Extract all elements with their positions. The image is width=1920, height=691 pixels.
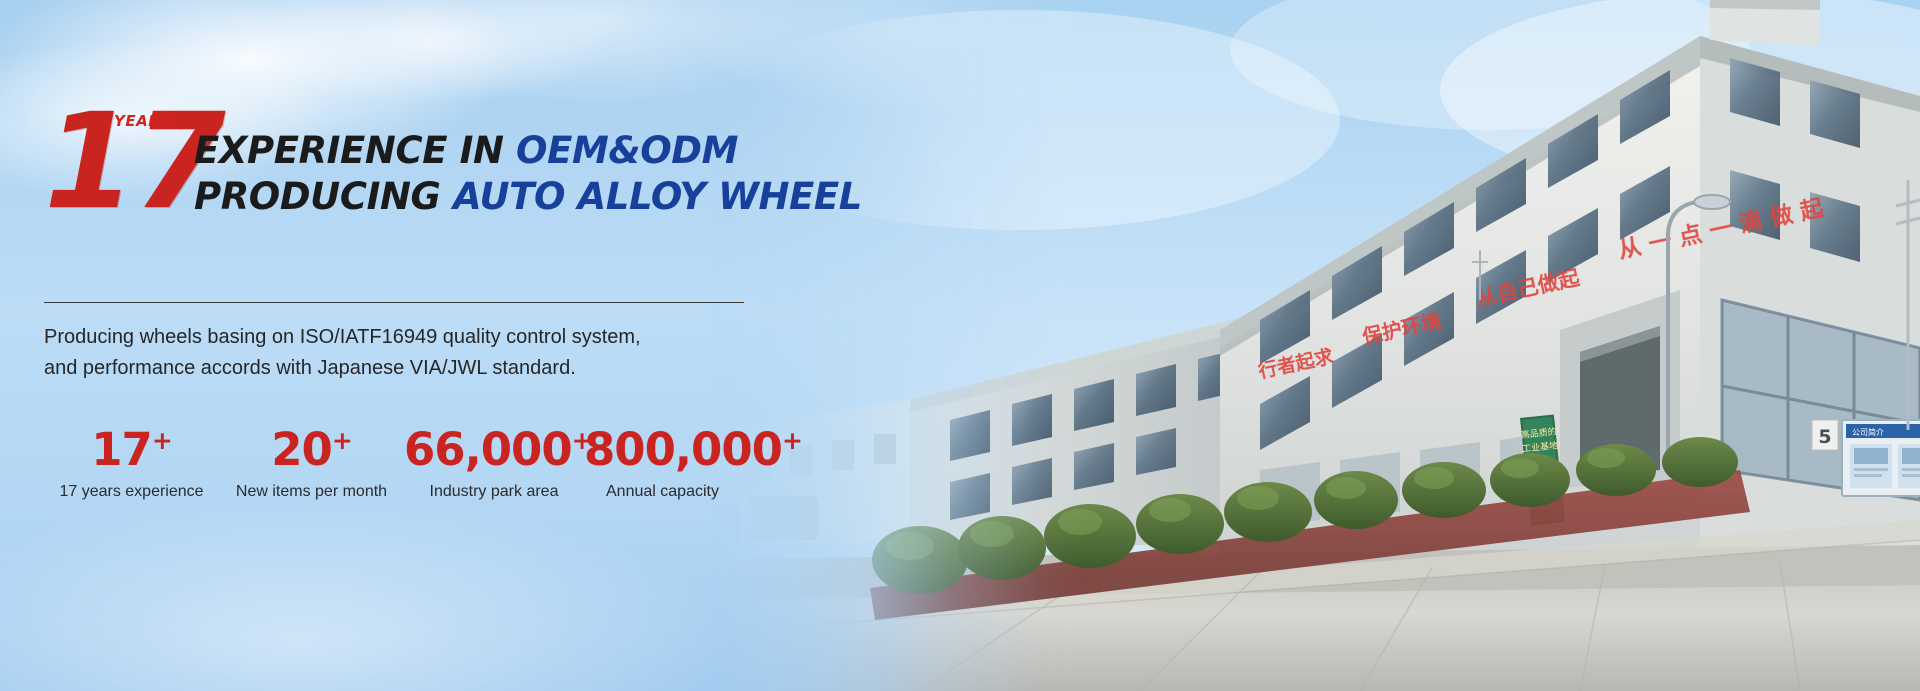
stat-number: 17 bbox=[91, 423, 152, 476]
svg-text:5: 5 bbox=[1818, 426, 1831, 448]
stat-suffix: + bbox=[782, 426, 802, 455]
headline: EXPERIENCE IN OEM&ODM PRODUCING AUTO ALL… bbox=[194, 128, 854, 220]
stat-number: 20 bbox=[271, 423, 332, 476]
headline-line-2: PRODUCING AUTO ALLOY WHEEL bbox=[194, 174, 854, 220]
stats-row: 17+ 17 years experience 20+ New items pe… bbox=[44, 424, 834, 502]
banner-content: 17 YEARS EXPERIENCE IN OEM&ODM PRODUCING… bbox=[44, 0, 844, 691]
promo-banner: 行者起求 保护环境 从自己做起 从 一 点 一 滴 做 起 bbox=[0, 0, 1920, 691]
headline-line-1: EXPERIENCE IN OEM&ODM bbox=[194, 128, 854, 174]
headline-line-1-dark: EXPERIENCE IN bbox=[194, 129, 516, 172]
description: Producing wheels basing on ISO/IATF16949… bbox=[44, 322, 764, 384]
stat-value: 17+ bbox=[44, 424, 219, 476]
stat-value: 66,000+ bbox=[404, 424, 584, 476]
stat-label: Industry park area bbox=[404, 482, 584, 502]
stat-label: 17 years experience bbox=[44, 482, 219, 502]
headline-line-1-blue: OEM&ODM bbox=[516, 129, 738, 172]
description-line-1: Producing wheels basing on ISO/IATF16949… bbox=[44, 322, 764, 353]
stat-number: 66,000 bbox=[404, 423, 572, 476]
headline-line-2-blue: AUTO ALLOY WHEEL bbox=[453, 175, 862, 218]
headline-line-2-dark: PRODUCING bbox=[194, 175, 453, 218]
svg-text:公司简介: 公司简介 bbox=[1852, 427, 1884, 437]
stat-label: New items per month bbox=[219, 482, 404, 502]
stat-value: 800,000+ bbox=[584, 424, 814, 476]
headline-divider bbox=[44, 302, 744, 303]
description-line-2: and performance accords with Japanese VI… bbox=[44, 353, 764, 384]
stat-number: 800,000 bbox=[584, 423, 782, 476]
stat-label: Annual capacity bbox=[584, 482, 814, 502]
stat-value: 20+ bbox=[219, 424, 404, 476]
stat-suffix: + bbox=[332, 426, 352, 455]
stat-item: 20+ New items per month bbox=[219, 424, 404, 502]
stat-item: 66,000+ Industry park area bbox=[404, 424, 584, 502]
years-unit-label: YEARS bbox=[114, 112, 172, 130]
stat-item: 800,000+ Annual capacity bbox=[584, 424, 814, 502]
stat-item: 17+ 17 years experience bbox=[44, 424, 219, 502]
stat-suffix: + bbox=[152, 426, 172, 455]
